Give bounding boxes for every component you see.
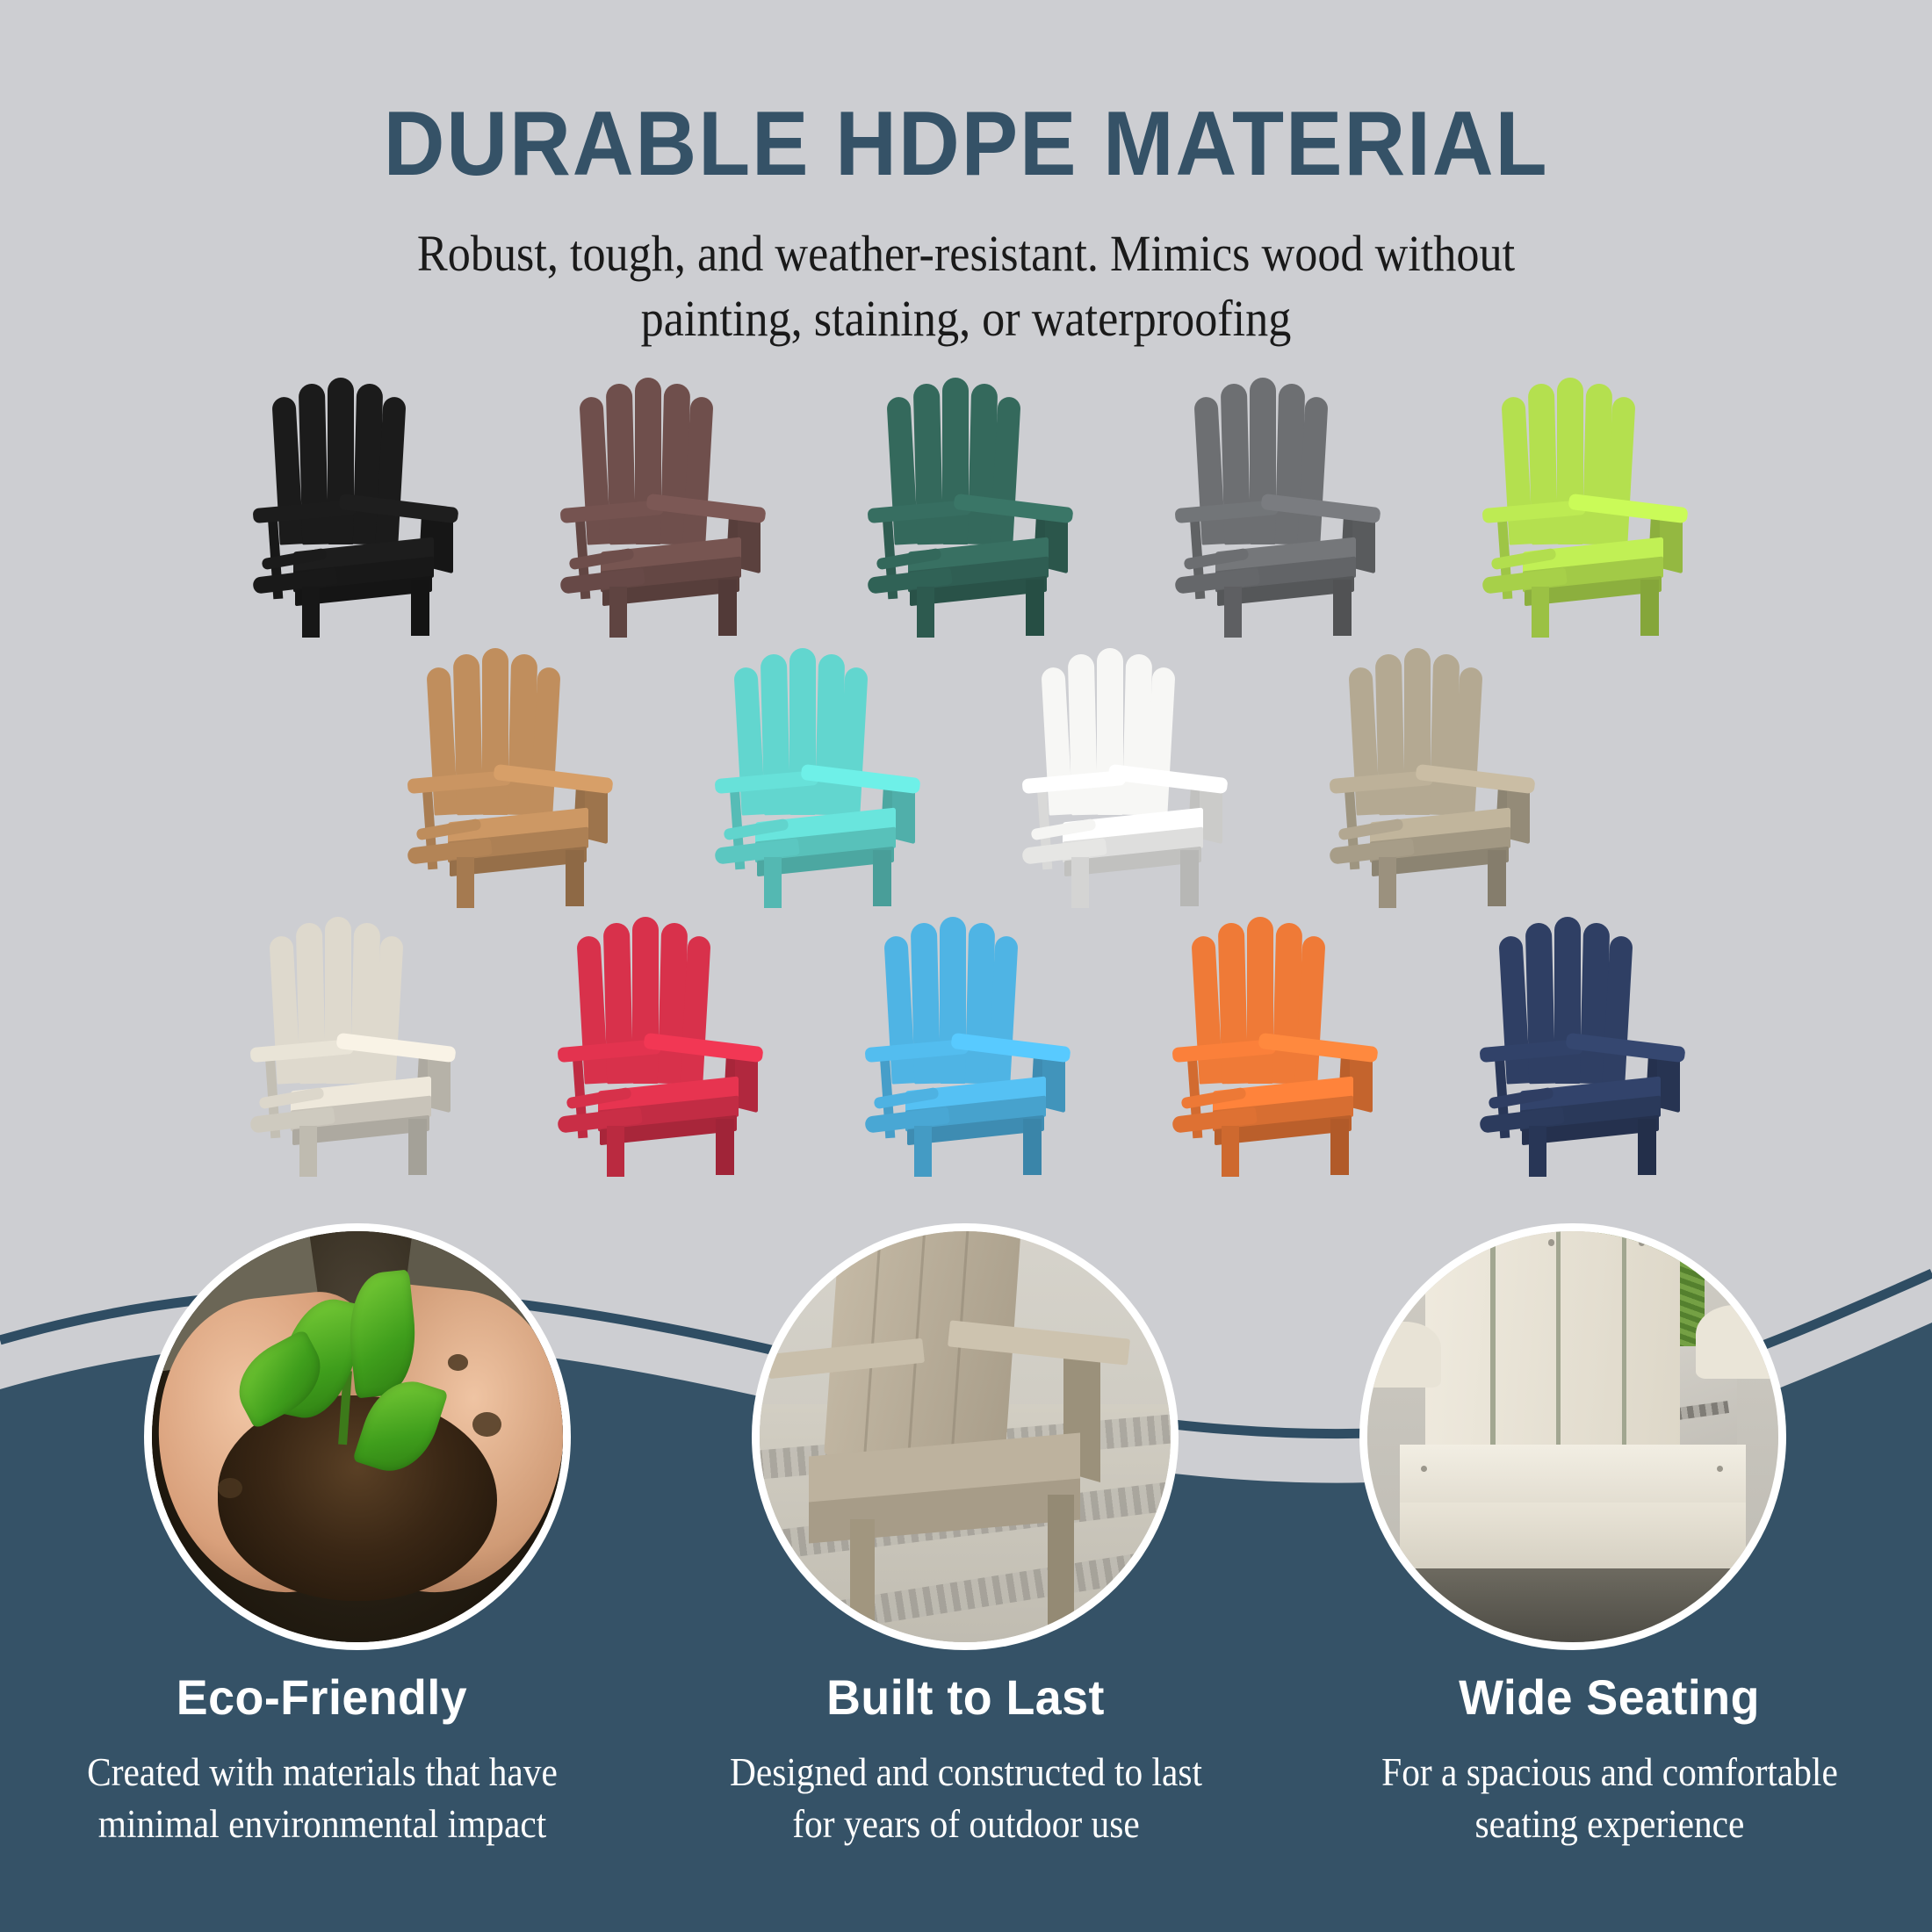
feature-description: For a spacious and comfortable seating e… bbox=[1351, 1747, 1868, 1849]
feature-captions: Eco-Friendly Created with materials that… bbox=[0, 1669, 1932, 1849]
chair-back-slat bbox=[635, 378, 661, 544]
chair-leg-front-right bbox=[873, 850, 891, 906]
adirondack-chair-illustration bbox=[552, 912, 772, 1175]
chair-back-slat bbox=[1247, 917, 1273, 1084]
chair-back-slat bbox=[482, 648, 508, 815]
chair-back-slat bbox=[453, 654, 483, 816]
feature-title: Wide Seating bbox=[1301, 1669, 1919, 1726]
chair-back-slat bbox=[1250, 378, 1276, 544]
chair-leg-front-left bbox=[1224, 587, 1242, 638]
chair-leg-front-left bbox=[299, 1126, 317, 1177]
feature-photo-circles bbox=[0, 1223, 1932, 1680]
chair-back-slat bbox=[296, 923, 326, 1085]
chair-leg-front-right bbox=[411, 580, 429, 636]
chair-swatch-gray[interactable] bbox=[1126, 367, 1433, 648]
chair-row-2 bbox=[14, 638, 1932, 919]
adirondack-chair-illustration bbox=[248, 372, 467, 636]
chair-leg-front-left bbox=[917, 587, 934, 638]
chair-swatch-khaki[interactable] bbox=[1280, 638, 1588, 919]
chair-swatch-forest-green[interactable] bbox=[818, 367, 1126, 648]
chair-leg-front-left bbox=[764, 857, 782, 908]
chair-leg-front-left bbox=[1071, 857, 1089, 908]
chair-leg-front-right bbox=[1023, 1119, 1042, 1175]
chair-leg-front-left bbox=[457, 857, 474, 908]
chair-back-slat bbox=[632, 917, 659, 1084]
adirondack-chair-illustration bbox=[1017, 643, 1236, 906]
chair-leg-front-left bbox=[1529, 1126, 1546, 1177]
chair-back-slat bbox=[299, 384, 328, 545]
chair-leg-front-right bbox=[1488, 850, 1506, 906]
adirondack-chair-illustration bbox=[862, 372, 1082, 636]
adirondack-chair-illustration bbox=[1477, 372, 1697, 636]
feature-photo-eco-friendly bbox=[144, 1223, 571, 1650]
chair-swatch-brown[interactable] bbox=[511, 367, 818, 648]
adirondack-chair-illustration bbox=[1324, 643, 1544, 906]
adirondack-chair-illustration bbox=[555, 372, 775, 636]
feature-wide-seating: Wide Seating For a spacious and comforta… bbox=[1287, 1669, 1931, 1849]
chair-back-slat bbox=[1375, 654, 1405, 816]
chair-leg-front-left bbox=[1532, 587, 1549, 638]
chair-leg-front-right bbox=[718, 580, 737, 636]
chair-leg-front-right bbox=[1640, 580, 1659, 636]
chair-leg-front-right bbox=[1026, 580, 1044, 636]
chair-back-slat bbox=[1097, 648, 1123, 815]
adirondack-chair-illustration bbox=[1474, 912, 1694, 1175]
feature-photo-wide-seating bbox=[1359, 1223, 1786, 1650]
chair-swatch-light-blue[interactable] bbox=[816, 906, 1123, 1187]
adirondack-chair-illustration bbox=[402, 643, 622, 906]
chair-swatch-orange[interactable] bbox=[1123, 906, 1431, 1187]
chair-back-slat bbox=[942, 378, 969, 544]
chair-swatch-ivory[interactable] bbox=[201, 906, 508, 1187]
chair-leg-front-right bbox=[566, 850, 584, 906]
chair-swatch-red[interactable] bbox=[508, 906, 816, 1187]
feature-description: Created with materials that have minimal… bbox=[63, 1747, 580, 1849]
chair-back-slat bbox=[1218, 923, 1248, 1085]
chair-back-slat bbox=[1528, 384, 1558, 545]
chair-back-slat bbox=[940, 917, 966, 1084]
feature-description: Designed and constructed to last for yea… bbox=[707, 1747, 1224, 1849]
chair-back-slat bbox=[913, 384, 943, 545]
adirondack-chair-illustration bbox=[1167, 912, 1387, 1175]
adirondack-chair-illustration bbox=[245, 912, 465, 1175]
chair-leg-front-left bbox=[1222, 1126, 1239, 1177]
hdpe-material-infographic: DURABLE HDPE MATERIAL Robust, tough, and… bbox=[0, 0, 1932, 1932]
chair-back-slat bbox=[1557, 378, 1583, 544]
chair-back-slat bbox=[328, 378, 354, 544]
chair-leg-front-right bbox=[716, 1119, 734, 1175]
feature-eco-friendly: Eco-Friendly Created with materials that… bbox=[0, 1669, 644, 1849]
chair-swatch-black[interactable] bbox=[204, 367, 511, 648]
chair-back-slat bbox=[1221, 384, 1251, 545]
chair-swatch-turquoise[interactable] bbox=[666, 638, 973, 919]
khaki-chair-on-patio-photo bbox=[760, 1231, 1171, 1642]
chair-row-3 bbox=[7, 906, 1932, 1187]
chair-row-1 bbox=[12, 367, 1932, 648]
chair-swatch-navy-blue[interactable] bbox=[1431, 906, 1738, 1187]
chair-back-slat bbox=[789, 648, 816, 815]
chair-leg-front-right bbox=[408, 1119, 427, 1175]
adirondack-chair-illustration bbox=[1170, 372, 1389, 636]
adirondack-chair-illustration bbox=[860, 912, 1079, 1175]
chair-back-slat bbox=[603, 923, 633, 1085]
chair-back-slat bbox=[761, 654, 790, 816]
chair-leg-front-right bbox=[1333, 580, 1352, 636]
chair-swatch-lime-green[interactable] bbox=[1433, 367, 1741, 648]
chair-color-grid bbox=[0, 367, 1932, 1187]
chair-leg-front-left bbox=[609, 587, 627, 638]
chair-back-slat bbox=[606, 384, 636, 545]
page-subtitle: Robust, tough, and weather-resistant. Mi… bbox=[350, 190, 1582, 351]
chair-back-slat bbox=[1404, 648, 1431, 815]
chair-back-slat bbox=[1525, 923, 1555, 1085]
chair-back-slat bbox=[1554, 917, 1581, 1084]
wide-seat-closeup-photo bbox=[1367, 1231, 1778, 1642]
chair-leg-front-left bbox=[607, 1126, 624, 1177]
chair-leg-front-right bbox=[1180, 850, 1199, 906]
chair-leg-front-left bbox=[302, 587, 320, 638]
feature-title: Built to Last bbox=[657, 1669, 1275, 1726]
adirondack-chair-illustration bbox=[710, 643, 929, 906]
chair-leg-front-right bbox=[1638, 1119, 1656, 1175]
chair-leg-front-left bbox=[1379, 857, 1396, 908]
chair-leg-front-right bbox=[1330, 1119, 1349, 1175]
chair-swatch-white[interactable] bbox=[973, 638, 1280, 919]
hands-holding-soil-seedling-photo bbox=[152, 1231, 563, 1642]
chair-back-slat bbox=[325, 917, 351, 1084]
chair-back-slat bbox=[1068, 654, 1098, 816]
chair-back-slat bbox=[911, 923, 941, 1085]
feature-title: Eco-Friendly bbox=[13, 1669, 631, 1726]
feature-built-to-last: Built to Last Designed and constructed t… bbox=[644, 1669, 1287, 1849]
chair-leg-front-left bbox=[914, 1126, 932, 1177]
header: DURABLE HDPE MATERIAL Robust, tough, and… bbox=[0, 0, 1932, 351]
feature-photo-built-to-last bbox=[752, 1223, 1179, 1650]
page-title: DURABLE HDPE MATERIAL bbox=[68, 0, 1864, 190]
chair-swatch-teak[interactable] bbox=[358, 638, 666, 919]
